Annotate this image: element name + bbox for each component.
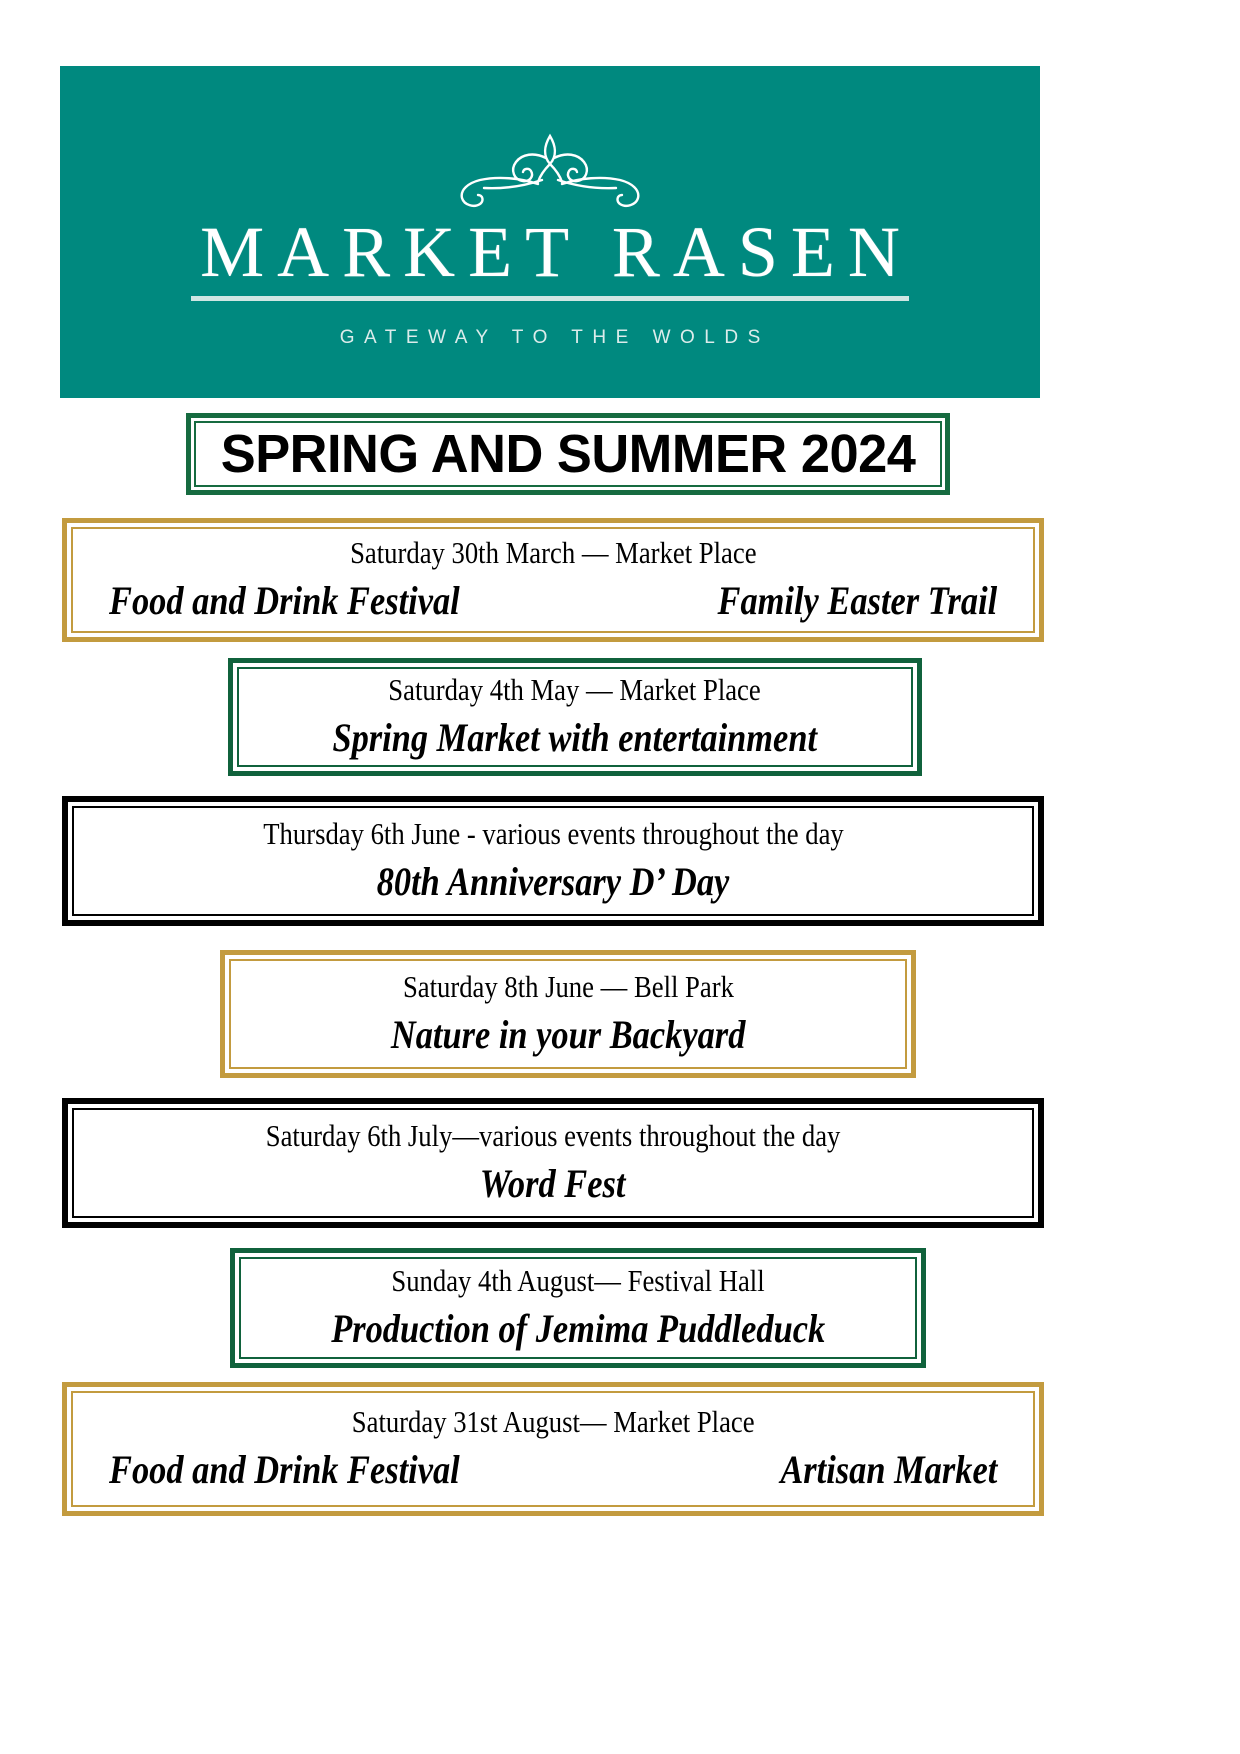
brand-divider-rule bbox=[191, 296, 909, 301]
event-box-3-inner: Thursday 6th June - various events throu… bbox=[72, 806, 1034, 916]
event-box-7-inner: Saturday 31st August— Market Place Food … bbox=[71, 1391, 1035, 1507]
brand-name: MARKET RASEN bbox=[187, 216, 913, 288]
event-title: Production of Jemima Puddleduck bbox=[331, 1305, 825, 1353]
event-box-6-inner: Sunday 4th August— Festival Hall Product… bbox=[239, 1257, 917, 1359]
page-title: SPRING AND SUMMER 2024 bbox=[221, 423, 916, 485]
event-titles-row: Food and Drink Festival Family Easter Tr… bbox=[73, 577, 1033, 625]
event-box-2: Saturday 4th May — Market Place Spring M… bbox=[228, 658, 922, 776]
event-box-2-inner: Saturday 4th May — Market Place Spring M… bbox=[237, 667, 913, 767]
event-box-1: Saturday 30th March — Market Place Food … bbox=[62, 518, 1044, 642]
event-title: Food and Drink Festival bbox=[109, 1446, 460, 1494]
event-titles-row: Food and Drink Festival Artisan Market bbox=[73, 1446, 1033, 1494]
event-title: 80th Anniversary D’ Day bbox=[377, 858, 730, 906]
event-title-secondary: Artisan Market bbox=[780, 1446, 997, 1494]
event-box-5-inner: Saturday 6th July—various events through… bbox=[72, 1108, 1034, 1218]
event-box-4: Saturday 8th June — Bell Park Nature in … bbox=[220, 950, 916, 1078]
event-title-secondary: Family Easter Trail bbox=[717, 577, 997, 625]
event-date-line: Thursday 6th June - various events throu… bbox=[263, 816, 843, 852]
event-date-line: Saturday 6th July—various events through… bbox=[266, 1118, 841, 1154]
event-box-1-inner: Saturday 30th March — Market Place Food … bbox=[71, 527, 1035, 633]
event-title: Nature in your Backyard bbox=[391, 1011, 746, 1059]
event-title: Word Fest bbox=[480, 1160, 626, 1208]
event-box-4-inner: Saturday 8th June — Bell Park Nature in … bbox=[229, 959, 907, 1069]
flourish-ornament-icon bbox=[420, 128, 680, 214]
event-date-line: Saturday 30th March — Market Place bbox=[350, 535, 756, 571]
event-date-line: Saturday 8th June — Bell Park bbox=[403, 969, 734, 1005]
poster-title-box-inner: SPRING AND SUMMER 2024 bbox=[194, 421, 942, 487]
event-box-6: Sunday 4th August— Festival Hall Product… bbox=[230, 1248, 926, 1368]
event-title: Spring Market with entertainment bbox=[333, 714, 818, 762]
event-date-line: Saturday 4th May — Market Place bbox=[389, 672, 761, 708]
event-box-3: Thursday 6th June - various events throu… bbox=[62, 796, 1044, 926]
event-box-7: Saturday 31st August— Market Place Food … bbox=[62, 1382, 1044, 1516]
poster-root: MARKET RASEN GATEWAY TO THE WOLDS SPRING… bbox=[0, 0, 1240, 1754]
event-box-5: Saturday 6th July—various events through… bbox=[62, 1098, 1044, 1228]
brand-banner: MARKET RASEN GATEWAY TO THE WOLDS bbox=[60, 66, 1040, 398]
event-date-line: Sunday 4th August— Festival Hall bbox=[391, 1263, 764, 1299]
brand-tagline: GATEWAY TO THE WOLDS bbox=[330, 327, 770, 349]
event-title: Food and Drink Festival bbox=[109, 577, 460, 625]
event-date-line: Saturday 31st August— Market Place bbox=[352, 1404, 755, 1440]
poster-title-box: SPRING AND SUMMER 2024 bbox=[186, 413, 950, 495]
